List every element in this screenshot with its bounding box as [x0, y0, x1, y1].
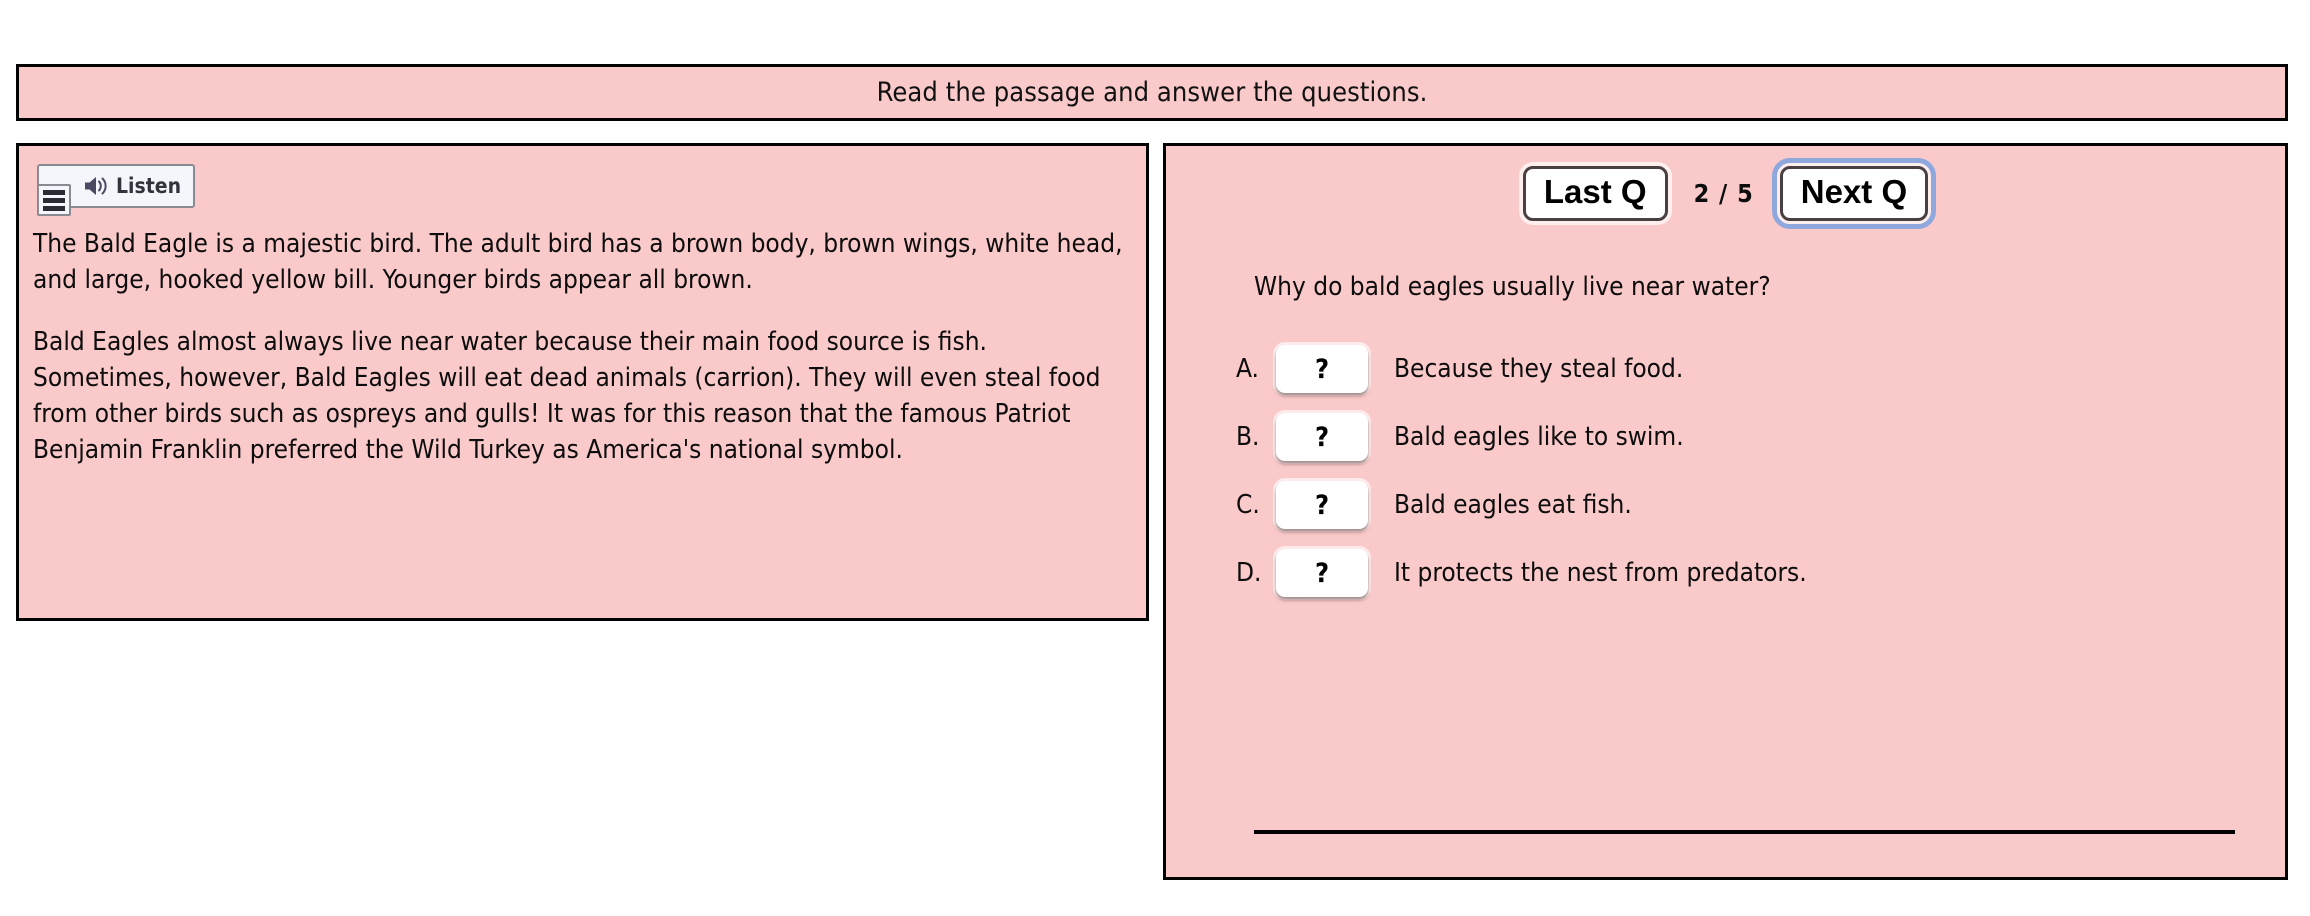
answer-choice-list: A. ? Because they steal food. B. ? Bald … — [1236, 344, 2245, 616]
answer-choice-b: B. ? Bald eagles like to swim. — [1236, 412, 2245, 462]
question-counter: 2 / 5 — [1694, 179, 1754, 208]
passage-text: The Bald Eagle is a majestic bird. The a… — [33, 226, 1130, 468]
question-panel: Last Q 2 / 5 Next Q Why do bald eagles u… — [1163, 143, 2288, 880]
listen-button-label: Listen — [116, 174, 181, 198]
menu-list-icon[interactable] — [37, 184, 71, 216]
instruction-text: Read the passage and answer the question… — [877, 77, 1428, 108]
passage-paragraph-1: The Bald Eagle is a majestic bird. The a… — [33, 226, 1130, 298]
last-question-button[interactable]: Last Q — [1523, 166, 1668, 221]
answer-choice-a: A. ? Because they steal food. — [1236, 344, 2245, 394]
question-nav: Last Q 2 / 5 Next Q — [1166, 166, 2285, 221]
answer-choice-c: C. ? Bald eagles eat fish. — [1236, 480, 2245, 530]
question-prompt: Why do bald eagles usually live near wat… — [1254, 272, 1771, 302]
answer-choice-d: D. ? It protects the nest from predators… — [1236, 548, 2245, 598]
speaker-icon — [83, 175, 109, 197]
panel-divider — [1254, 830, 2235, 834]
choice-select-button-d[interactable]: ? — [1276, 549, 1368, 597]
choice-text-c: Bald eagles eat fish. — [1394, 490, 1632, 520]
choice-select-button-b[interactable]: ? — [1276, 413, 1368, 461]
next-question-button[interactable]: Next Q — [1780, 166, 1928, 221]
choice-letter-b: B. — [1236, 422, 1276, 452]
choice-text-d: It protects the nest from predators. — [1394, 558, 1807, 588]
choice-select-button-a[interactable]: ? — [1276, 345, 1368, 393]
choice-letter-c: C. — [1236, 490, 1276, 520]
quiz-page: Read the passage and answer the question… — [0, 0, 2310, 916]
choice-letter-d: D. — [1236, 558, 1276, 588]
instruction-banner: Read the passage and answer the question… — [16, 64, 2288, 121]
choice-text-b: Bald eagles like to swim. — [1394, 422, 1684, 452]
listen-button[interactable]: Listen — [37, 164, 195, 208]
passage-paragraph-2: Bald Eagles almost always live near wate… — [33, 324, 1130, 468]
choice-letter-a: A. — [1236, 354, 1276, 384]
choice-select-button-c[interactable]: ? — [1276, 481, 1368, 529]
passage-panel: Listen The Bald Eagle is a majestic bird… — [16, 143, 1149, 621]
choice-text-a: Because they steal food. — [1394, 354, 1683, 384]
